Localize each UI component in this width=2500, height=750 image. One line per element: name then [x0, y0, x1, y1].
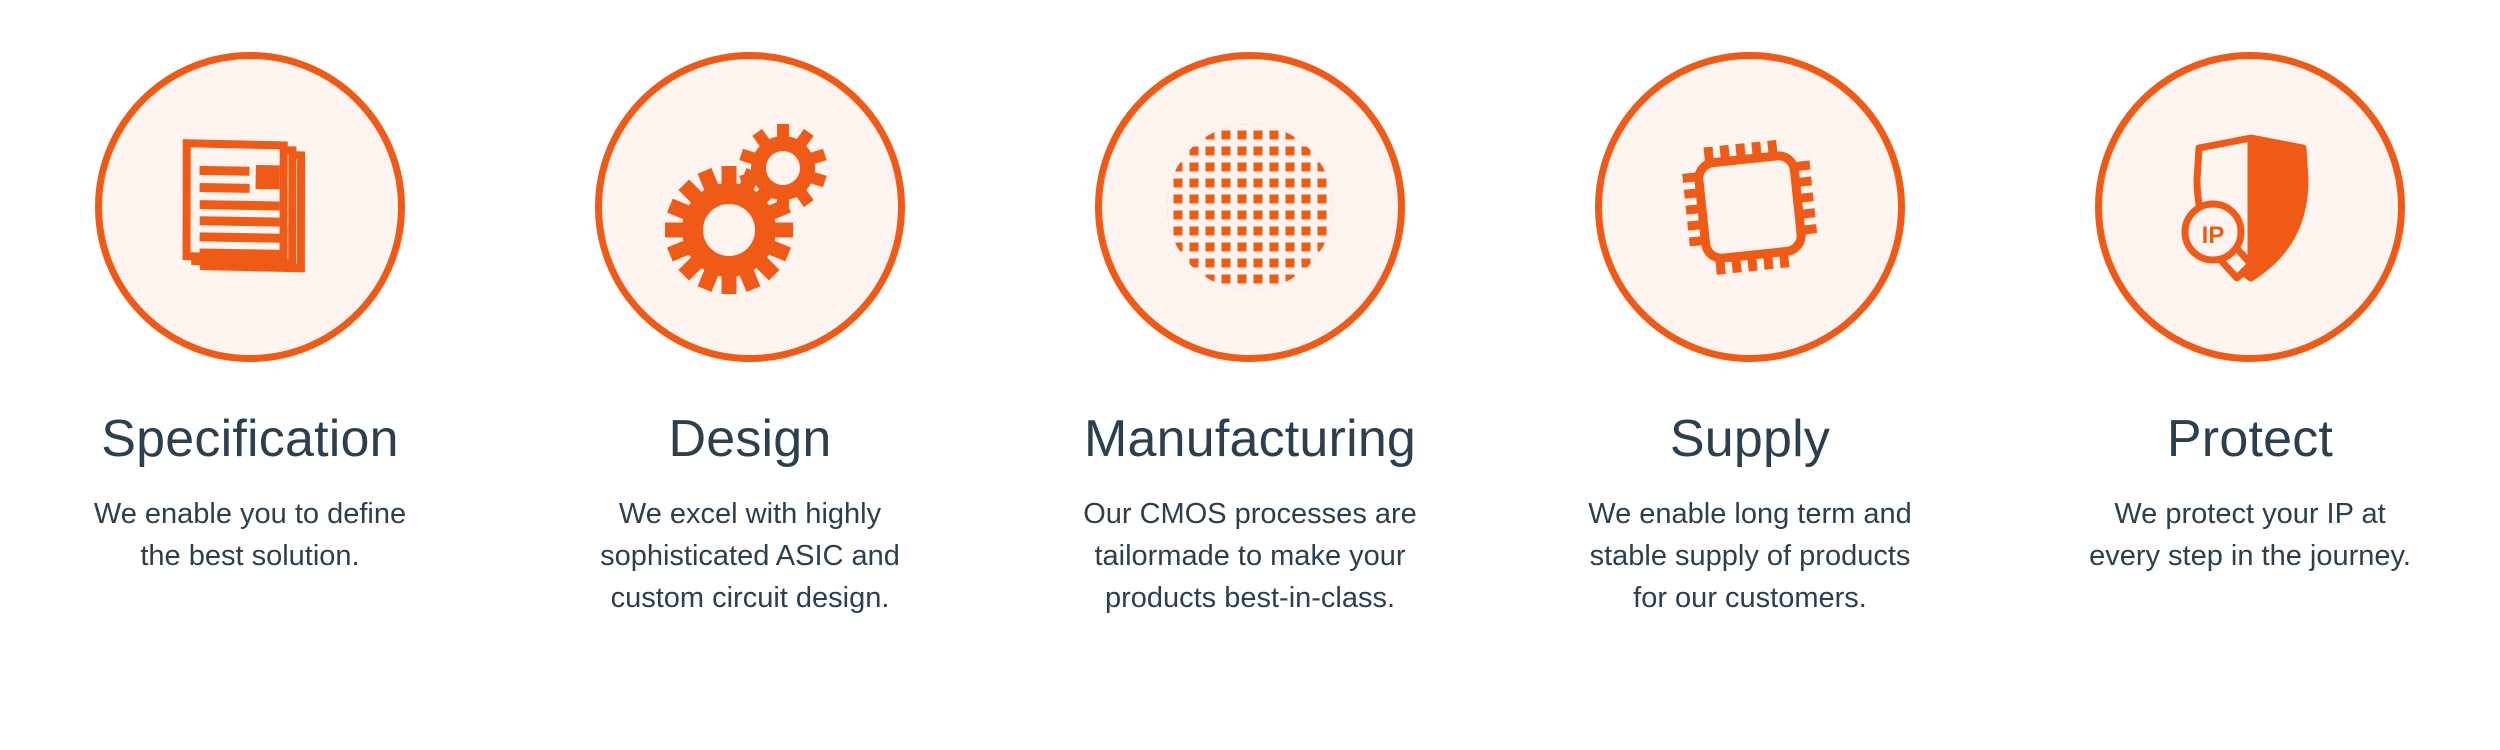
step-description: We protect your IP at every step in the …: [2078, 493, 2423, 577]
step-icon-circle: [1595, 52, 1905, 362]
step-card-supply: Supply We enable long term and stable su…: [1500, 0, 2000, 750]
step-icon-circle: [595, 52, 905, 362]
step-card-specification: Specification We enable you to define th…: [0, 0, 500, 750]
step-description: Our CMOS processes are tailormade to mak…: [1073, 493, 1428, 619]
documents-stack-icon: [157, 114, 343, 300]
step-description: We enable long term and stable supply of…: [1573, 493, 1928, 619]
step-icon-circle: [1095, 52, 1405, 362]
step-title: Manufacturing: [1084, 412, 1416, 467]
gears-icon: [655, 112, 845, 302]
step-icon-circle: [95, 52, 405, 362]
step-title: Supply: [1670, 412, 1830, 467]
step-description: We excel with highly sophisticated ASIC …: [585, 493, 915, 619]
step-title: Design: [668, 412, 831, 467]
microchip-icon: [1660, 117, 1840, 297]
silicon-wafer-icon: [1162, 119, 1338, 295]
step-title: Specification: [101, 412, 398, 467]
step-title: Protect: [2167, 412, 2333, 467]
step-icon-circle: IP: [2095, 52, 2405, 362]
step-description: We enable you to define the best solutio…: [78, 493, 423, 577]
ip-badge-label: IP: [2202, 222, 2225, 249]
step-card-manufacturing: Manufacturing Our CMOS processes are tai…: [1000, 0, 1500, 750]
step-card-protect: IP Protect We protect your IP at every s…: [2000, 0, 2500, 750]
process-steps-row: Specification We enable you to define th…: [0, 0, 2500, 750]
shield-ip-icon: IP: [2155, 112, 2345, 302]
step-card-design: Design We excel with highly sophisticate…: [500, 0, 1000, 750]
